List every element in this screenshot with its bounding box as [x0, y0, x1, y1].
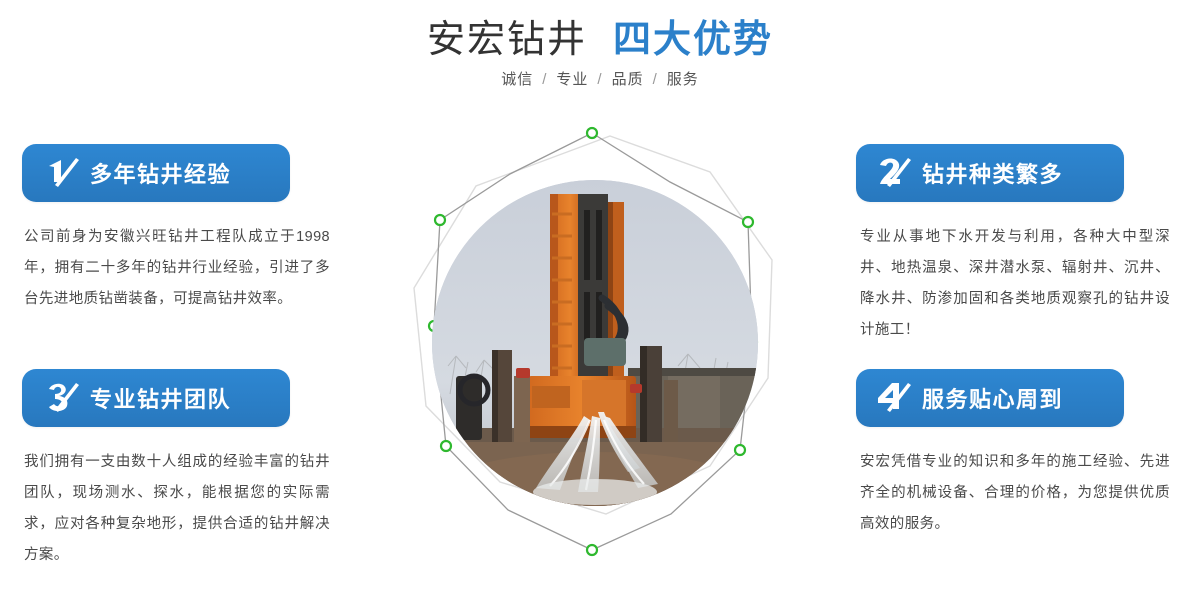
subtitle-separator-2: /: [653, 71, 658, 88]
feature-badge-1[interactable]: 多年钻井经验: [22, 144, 290, 202]
title-accent: 四大优势: [613, 19, 773, 61]
feature-body-1: 公司前身为安徽兴旺钻井工程队成立于1998年，拥有二十多年的钻井行业经验，引进了…: [24, 222, 330, 315]
feature-badge-3[interactable]: 专业钻井团队: [22, 369, 290, 427]
subtitle-item-1: 专业: [556, 71, 588, 88]
numeral-one-icon: [42, 153, 84, 193]
numeral-four-icon: [874, 378, 916, 418]
vertex-dot-7: [435, 215, 445, 225]
center-graphic: [380, 110, 810, 570]
page-root: 安宏钻井四大优势 诚信/专业/品质/服务: [0, 0, 1200, 600]
vertex-dot-5: [441, 441, 451, 451]
subtitle-separator-0: /: [542, 71, 547, 88]
drilling-rig-illustration: [432, 180, 758, 506]
subtitle-item-0: 诚信: [501, 71, 533, 88]
feature-body-2: 专业从事地下水开发与利用，各种大中型深井、地热温泉、深井潜水泵、辐射井、沉井、降…: [860, 222, 1170, 346]
feature-badge-4[interactable]: 服务贴心周到: [856, 369, 1124, 427]
subtitle-separator-1: /: [597, 71, 602, 88]
vertex-dot-0: [587, 128, 597, 138]
feature-title-1: 多年钻井经验: [90, 157, 231, 189]
feature-card-4: 服务贴心周到 安宏凭借专业的知识和多年的施工经验、先进齐全的机械设备、合理的价格…: [850, 369, 1200, 540]
subtitle-item-2: 品质: [612, 71, 644, 88]
feature-badge-2[interactable]: 钻井种类繁多: [856, 144, 1124, 202]
feature-card-2: 钻井种类繁多 专业从事地下水开发与利用，各种大中型深井、地热温泉、深井潜水泵、辐…: [850, 144, 1200, 346]
drilling-rig-photo: [432, 180, 758, 506]
vertex-dot-4: [587, 545, 597, 555]
vertex-dot-1: [743, 217, 753, 227]
feature-body-4: 安宏凭借专业的知识和多年的施工经验、先进齐全的机械设备、合理的价格，为您提供优质…: [860, 447, 1170, 540]
feature-title-2: 钻井种类繁多: [922, 157, 1063, 189]
numeral-three-icon: [42, 378, 84, 418]
vertex-dot-3: [735, 445, 745, 455]
feature-title-4: 服务贴心周到: [922, 382, 1063, 414]
page-title: 安宏钻井四大优势: [0, 14, 1200, 66]
feature-card-3: 专业钻井团队 我们拥有一支由数十人组成的经验丰富的钻井团队，现场测水、探水，能根…: [0, 369, 350, 571]
feature-card-1: 多年钻井经验 公司前身为安徽兴旺钻井工程队成立于1998年，拥有二十多年的钻井行…: [0, 144, 350, 315]
title-company: 安宏钻井: [427, 19, 587, 61]
subtitle-keywords: 诚信/专业/品质/服务: [0, 68, 1200, 89]
page-header: 安宏钻井四大优势 诚信/专业/品质/服务: [0, 0, 1200, 110]
feature-title-3: 专业钻井团队: [90, 382, 231, 414]
numeral-two-icon: [874, 153, 916, 193]
subtitle-item-3: 服务: [667, 71, 699, 88]
feature-body-3: 我们拥有一支由数十人组成的经验丰富的钻井团队，现场测水、探水，能根据您的实际需求…: [24, 447, 330, 571]
